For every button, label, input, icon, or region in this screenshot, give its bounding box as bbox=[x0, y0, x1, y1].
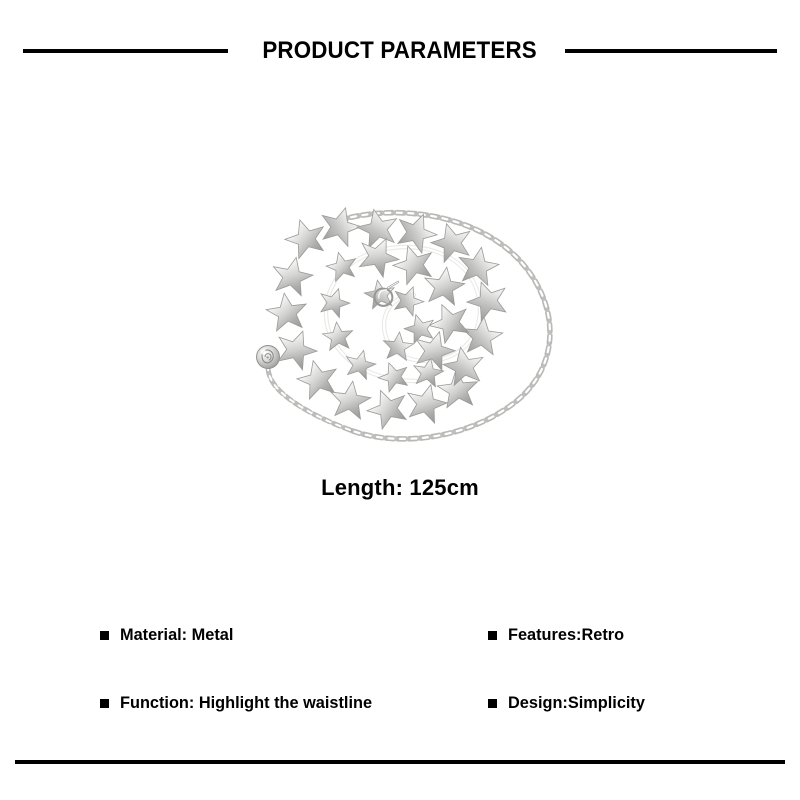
spec-item-design: Design:Simplicity bbox=[488, 692, 720, 760]
page-title: PRODUCT PARAMETERS bbox=[262, 37, 537, 65]
bullet-square-icon bbox=[488, 699, 497, 708]
bullet-square-icon bbox=[100, 631, 109, 640]
product-spec-list: Material: Metal Features:Retro Function:… bbox=[100, 624, 720, 760]
spec-item-features: Features:Retro bbox=[488, 624, 720, 692]
rosette-bead-terminal bbox=[257, 346, 280, 369]
product-image bbox=[230, 185, 575, 470]
spec-label-features: Features:Retro bbox=[508, 624, 624, 646]
spec-label-function: Function: Highlight the waistline bbox=[120, 692, 372, 714]
spec-label-design: Design:Simplicity bbox=[508, 692, 645, 714]
spec-item-function: Function: Highlight the waistline bbox=[100, 692, 488, 760]
bullet-square-icon bbox=[488, 631, 497, 640]
header-rule-right bbox=[565, 49, 777, 53]
page-header: PRODUCT PARAMETERS bbox=[0, 30, 800, 72]
product-length-caption: Length: 125cm bbox=[0, 475, 800, 501]
spec-item-material: Material: Metal bbox=[100, 624, 488, 692]
spec-label-material: Material: Metal bbox=[120, 624, 233, 646]
header-rule-left bbox=[23, 49, 228, 53]
star-cluster-inner bbox=[316, 231, 475, 394]
bullet-square-icon bbox=[100, 699, 109, 708]
footer-rule bbox=[15, 760, 785, 764]
